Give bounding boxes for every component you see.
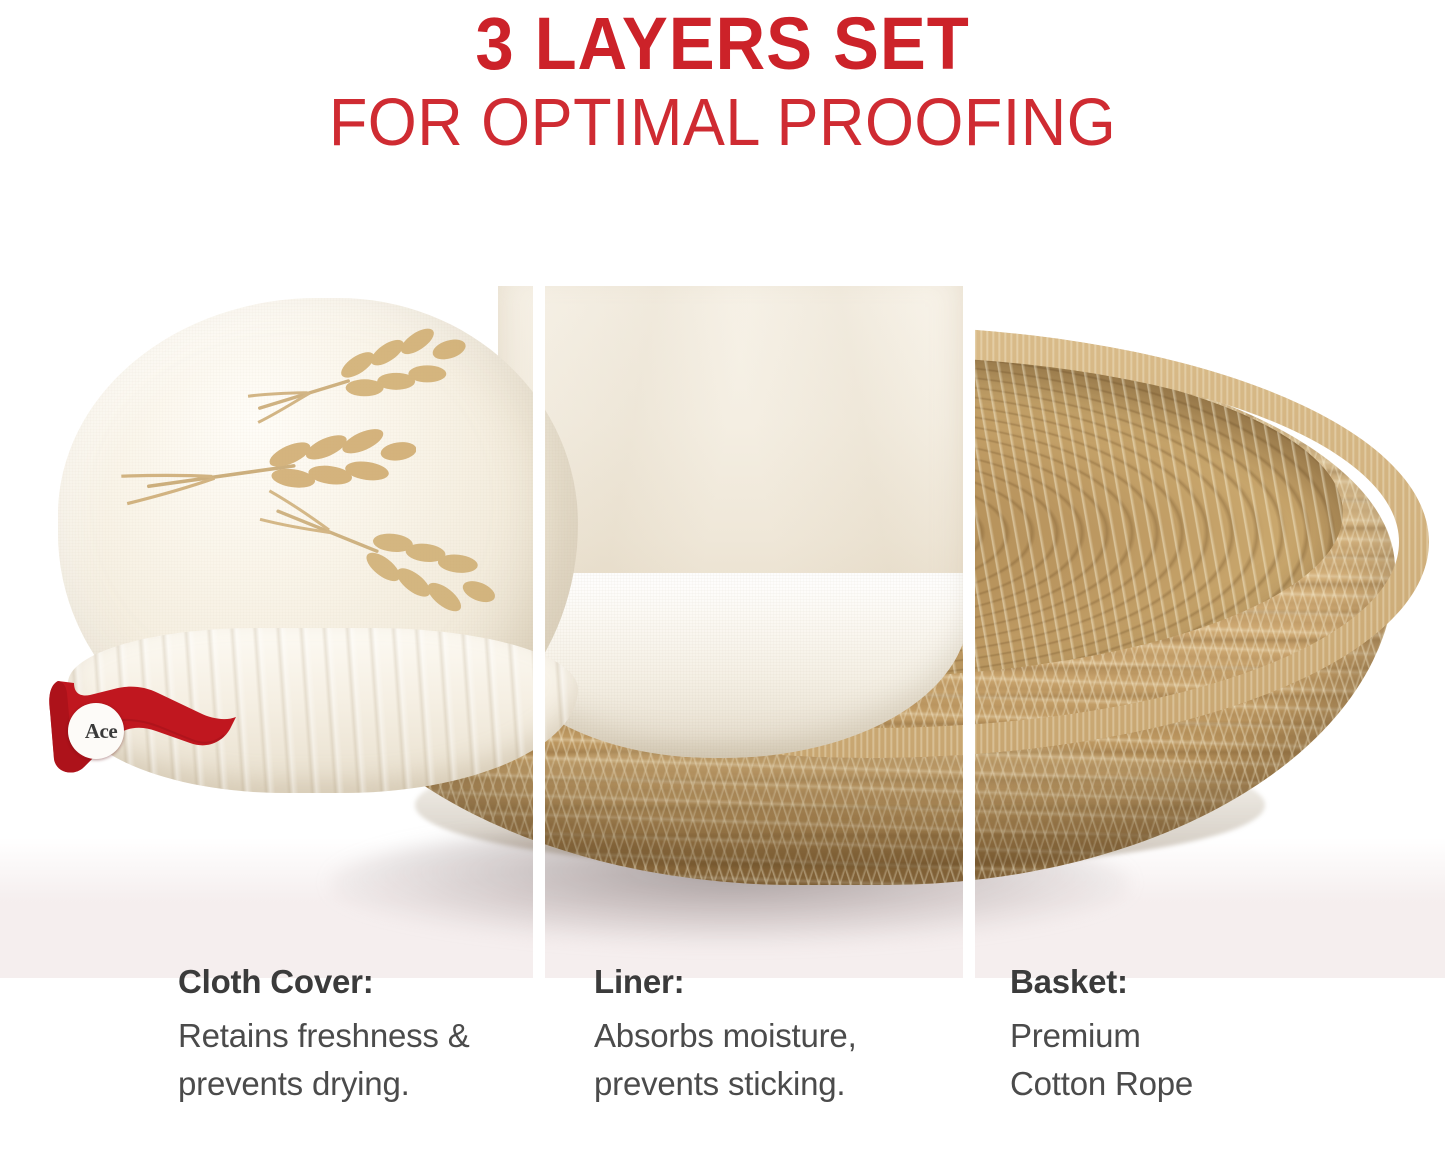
caption-cloth-cover: Cloth Cover: Retains freshness & prevent… (178, 960, 578, 1108)
infographic-page: 3 LAYERS SET FOR OPTIMAL PROOFING (0, 0, 1445, 1157)
panel-divider-2 (963, 278, 975, 978)
caption-body-line: Premium (1010, 1012, 1410, 1060)
caption-row: Cloth Cover: Retains freshness & prevent… (0, 960, 1445, 1157)
brand-tab-logo: Ace (68, 703, 124, 759)
headline-primary: 3 LAYERS SET (51, 4, 1395, 84)
caption-body-line: prevents sticking. (594, 1060, 994, 1108)
caption-body: Absorbs moisture, prevents sticking. (594, 1012, 994, 1108)
headline-block: 3 LAYERS SET FOR OPTIMAL PROOFING (0, 0, 1445, 162)
wheat-print-bottom (248, 488, 508, 618)
caption-body-line: Retains freshness & (178, 1012, 578, 1060)
caption-title: Cloth Cover: (178, 960, 578, 1004)
brand-tab: Ace (40, 663, 270, 783)
caption-basket: Basket: Premium Cotton Rope (1010, 960, 1410, 1108)
brand-tab-logo-text: Ace (85, 719, 117, 744)
panel-divider-1 (533, 278, 545, 978)
caption-body-line: prevents drying. (178, 1060, 578, 1108)
product-photo: Ace (0, 278, 1445, 978)
caption-liner: Liner: Absorbs moisture, prevents sticki… (594, 960, 994, 1108)
caption-body: Retains freshness & prevents drying. (178, 1012, 578, 1108)
caption-body: Premium Cotton Rope (1010, 1012, 1410, 1108)
caption-title: Basket: (1010, 960, 1410, 1004)
caption-title: Liner: (594, 960, 994, 1004)
photo-composite: Ace (0, 278, 1445, 978)
caption-body-line: Absorbs moisture, (594, 1012, 994, 1060)
headline-secondary: FOR OPTIMAL PROOFING (43, 84, 1401, 162)
caption-body-line: Cotton Rope (1010, 1060, 1410, 1108)
